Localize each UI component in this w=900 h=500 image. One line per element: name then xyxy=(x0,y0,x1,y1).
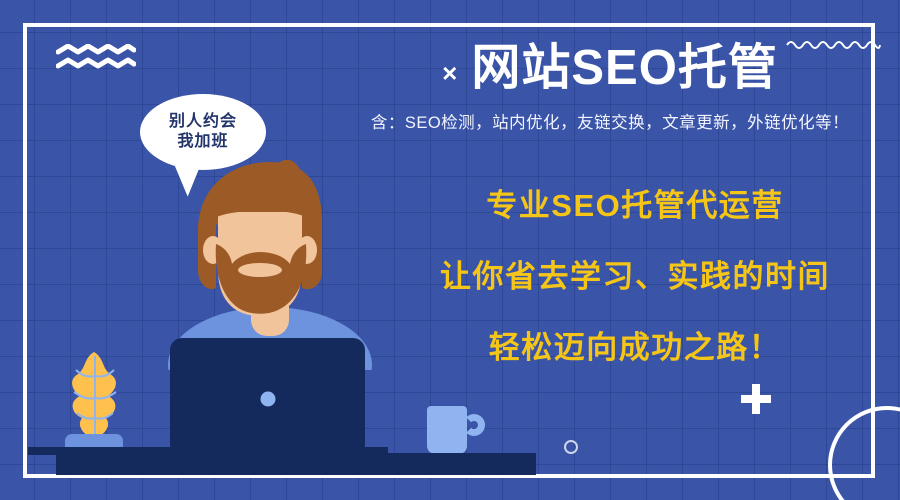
speech-bubble-line-2: 我加班 xyxy=(177,132,228,152)
speech-bubble: 别人约会 我加班 xyxy=(140,94,266,170)
plant-leaf-icon xyxy=(60,350,130,442)
page-title: 网站SEO托管 xyxy=(471,44,777,93)
page-subtitle: 含：SEO检测，站内优化，友链交换，文章更新，外链优化等！ xyxy=(330,109,890,133)
wave-lines-icon xyxy=(56,44,136,72)
plus-mark-icon xyxy=(741,384,771,414)
desk-surface xyxy=(56,453,536,475)
coffee-mug xyxy=(427,406,467,454)
small-circle-decoration xyxy=(564,440,578,454)
corner-circle-decoration xyxy=(828,406,900,500)
title-row: × 网站SEO托管 xyxy=(330,44,890,93)
seo-banner: × 网站SEO托管 含：SEO检测，站内优化，友链交换，文章更新，外链优化等！ … xyxy=(0,0,900,500)
header-block: × 网站SEO托管 含：SEO检测，站内优化，友链交换，文章更新，外链优化等！ xyxy=(330,44,890,133)
slogan-line-2: 让你省去学习、实践的时间 xyxy=(400,261,870,292)
title-bullet-icon: × xyxy=(442,60,457,86)
laptop-logo-icon xyxy=(260,392,275,407)
slogan-line-1: 专业SEO托管代运营 xyxy=(400,190,870,221)
laptop xyxy=(170,338,365,456)
speech-bubble-line-1: 别人约会 xyxy=(169,112,237,132)
mouth xyxy=(238,263,282,277)
slogan-line-3: 轻松迈向成功之路！ xyxy=(400,332,870,363)
slogan-block: 专业SEO托管代运营 让你省去学习、实践的时间 轻松迈向成功之路！ xyxy=(400,190,870,363)
coffee-mug-handle xyxy=(463,414,485,436)
